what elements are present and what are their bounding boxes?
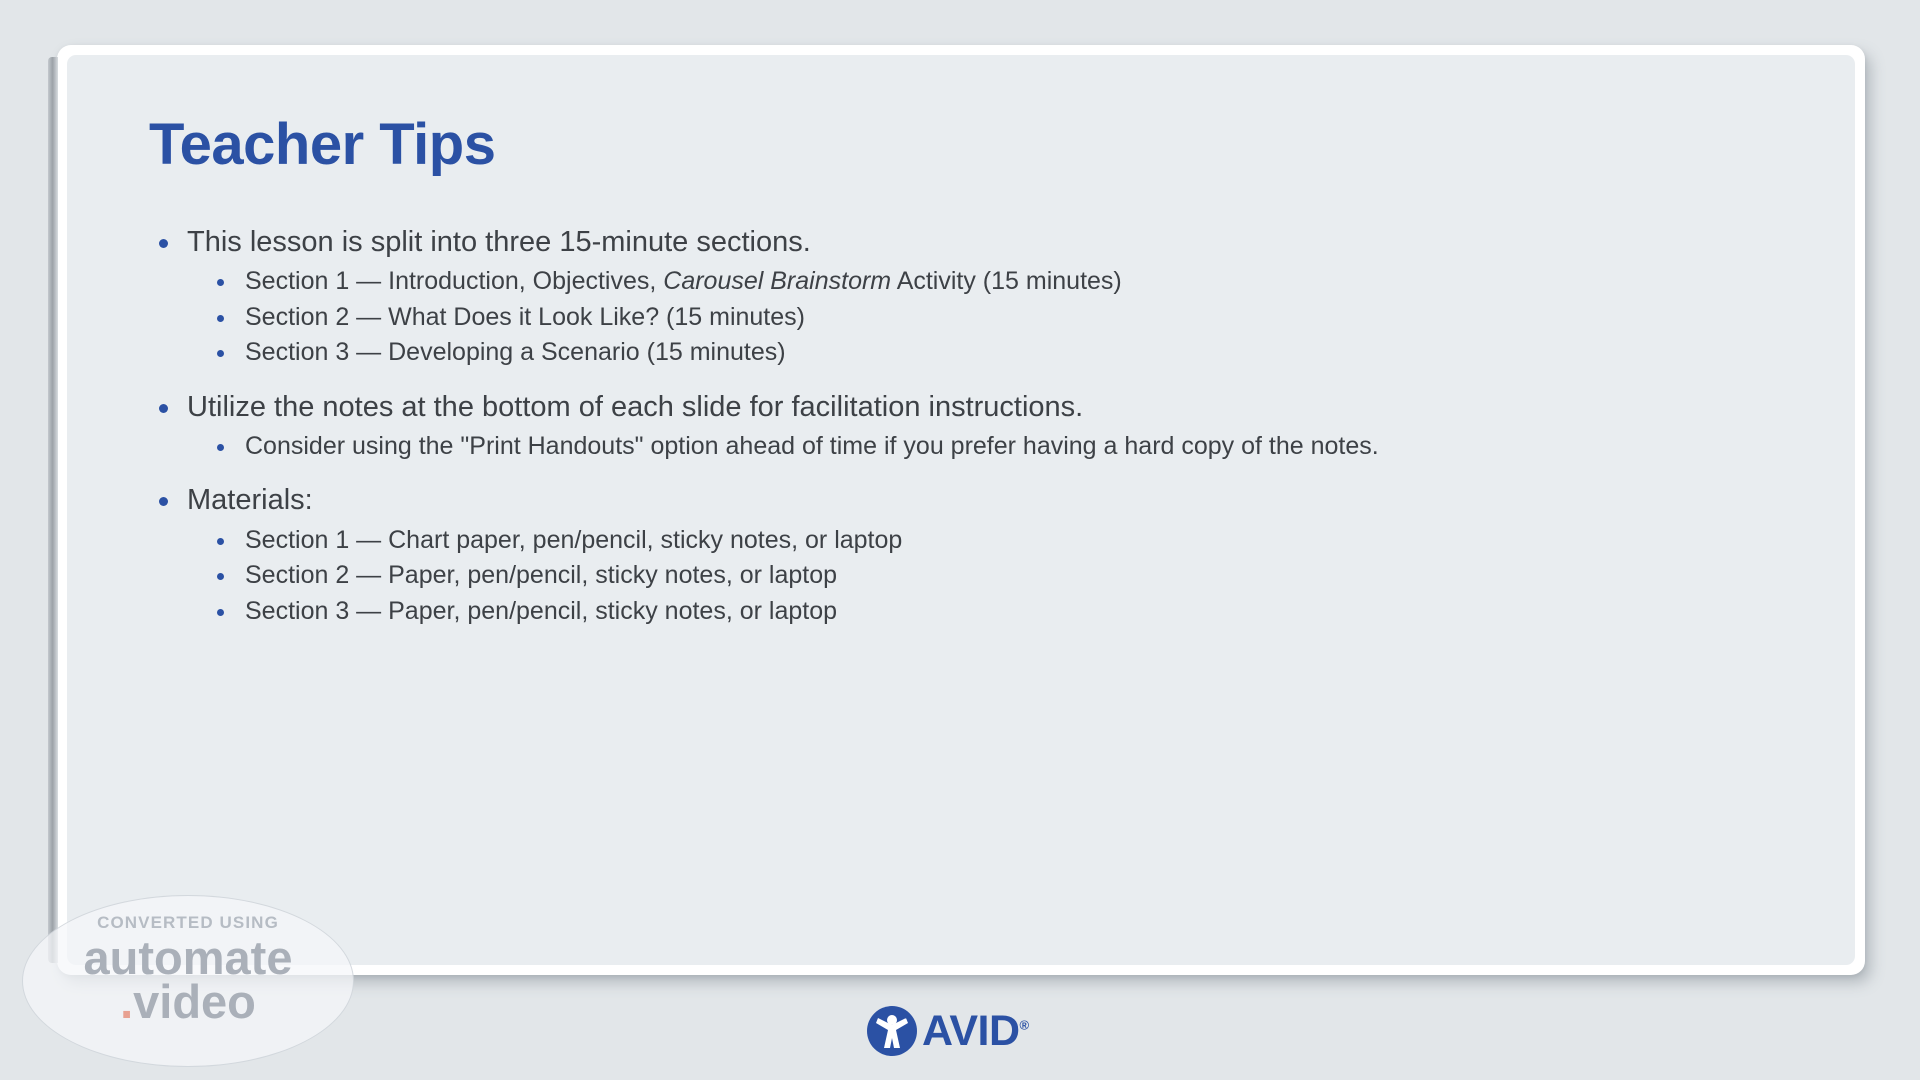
bullet-level2: Section 1 — Introduction, Objectives, Ca…	[187, 266, 1785, 297]
bullet-level2: Section 1 — Chart paper, pen/pencil, sti…	[187, 525, 1785, 556]
slide-viewer: Teacher Tips This lesson is split into t…	[0, 0, 1920, 1080]
bullet-level1: This lesson is split into three 15-minut…	[137, 224, 1785, 368]
bullet-level1-label: Materials:	[187, 482, 1785, 518]
bullet-level2-pre: Section 1 — Chart paper, pen/pencil, sti…	[245, 526, 902, 554]
bullet-level1: Materials: Section 1 — Chart paper, pen/…	[137, 482, 1785, 626]
bullet-level2-emphasis: Carousel Brainstorm	[663, 267, 891, 295]
bullet-level2: Section 2 — What Does it Look Like? (15 …	[187, 302, 1785, 333]
avid-wordmark-text: AVID	[922, 1007, 1020, 1055]
bullet-level2-pre: Section 2 — What Does it Look Like? (15 …	[245, 303, 805, 331]
bullet-level2-pre: Section 2 — Paper, pen/pencil, sticky no…	[245, 561, 837, 589]
page-title: Teacher Tips	[149, 115, 1785, 176]
bullet-level1: Utilize the notes at the bottom of each …	[137, 389, 1785, 462]
slide-card[interactable]: Teacher Tips This lesson is split into t…	[57, 45, 1865, 975]
bullet-level2-pre: Section 1 — Introduction, Objectives,	[245, 267, 663, 295]
bullet-level2-post: Activity (15 minutes)	[891, 267, 1122, 295]
slide-content: Teacher Tips This lesson is split into t…	[67, 55, 1855, 965]
bullet-level2: Section 2 — Paper, pen/pencil, sticky no…	[187, 560, 1785, 591]
sub-bullet-list: Consider using the "Print Handouts" opti…	[187, 431, 1785, 462]
watermark-domain: .video	[23, 978, 353, 1026]
sub-bullet-list: Section 1 — Introduction, Objectives, Ca…	[187, 266, 1785, 368]
bullet-level2-pre: Consider using the "Print Handouts" opti…	[245, 432, 1379, 460]
bullet-level1-label: This lesson is split into three 15-minut…	[187, 224, 1785, 260]
watermark-badge: CONVERTED USING automate .video	[22, 895, 354, 1067]
bullet-level2: Section 3 — Paper, pen/pencil, sticky no…	[187, 596, 1785, 627]
bullet-level2-pre: Section 3 — Developing a Scenario (15 mi…	[245, 338, 786, 366]
watermark-tld: video	[133, 975, 256, 1028]
slide-surface: Teacher Tips This lesson is split into t…	[67, 55, 1855, 965]
registered-trademark-icon: ®	[1020, 1017, 1029, 1032]
avid-logo: AVID®	[866, 1005, 1029, 1057]
watermark-dot: .	[120, 975, 133, 1028]
bullet-level2-pre: Section 3 — Paper, pen/pencil, sticky no…	[245, 597, 837, 625]
bullet-list: This lesson is split into three 15-minut…	[137, 224, 1785, 626]
bullet-level1-label: Utilize the notes at the bottom of each …	[187, 389, 1785, 425]
avid-person-icon	[866, 1005, 918, 1057]
bullet-level2: Consider using the "Print Handouts" opti…	[187, 431, 1785, 462]
bullet-level2: Section 3 — Developing a Scenario (15 mi…	[187, 337, 1785, 368]
avid-wordmark: AVID®	[922, 1010, 1029, 1053]
sub-bullet-list: Section 1 — Chart paper, pen/pencil, sti…	[187, 525, 1785, 627]
